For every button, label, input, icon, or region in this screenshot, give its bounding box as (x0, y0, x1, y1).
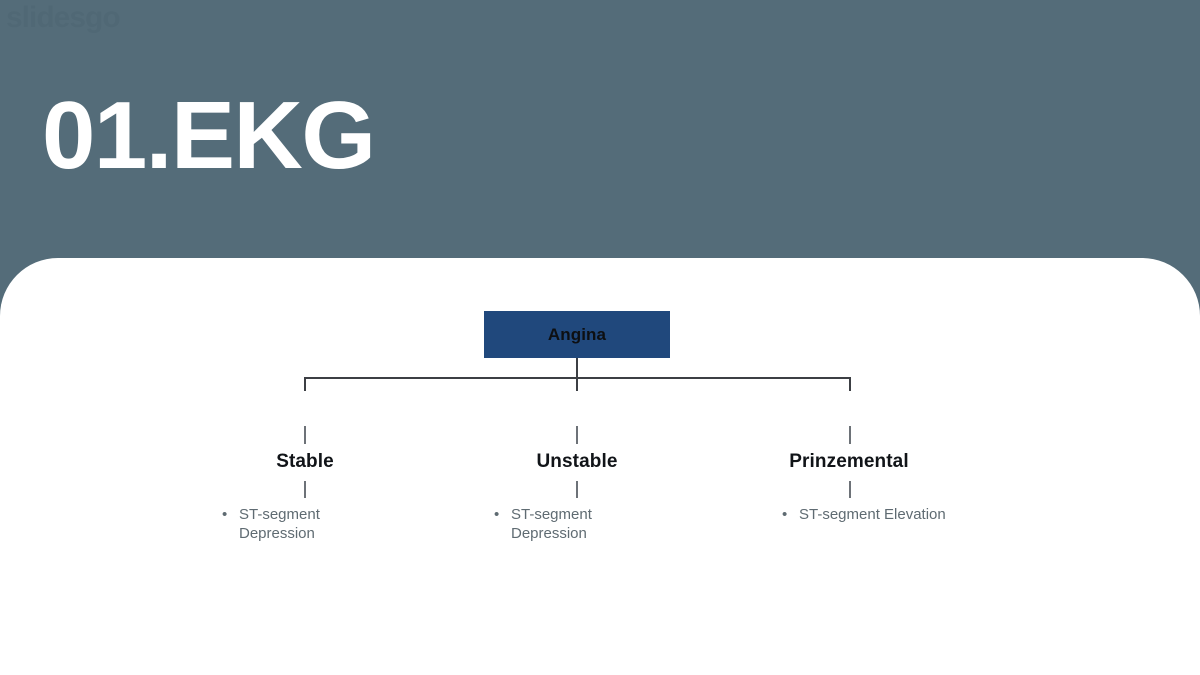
tree-root-label: Angina (548, 325, 606, 345)
watermark-logo: slidesgo (6, 2, 136, 64)
connector-root-vertical (576, 358, 578, 378)
branch-items-prinzemental: ST-segment Elevation (782, 506, 1032, 525)
branch-unstable[interactable]: Unstable (427, 452, 727, 471)
branch-items-stable: ST-segment Depression (222, 506, 402, 544)
slide: slidesgo 01.EKG Angina Stable ST-segment… (0, 0, 1200, 675)
content-panel: Angina Stable ST-segment Depression Unst… (0, 258, 1200, 675)
connector-branch-middle (576, 377, 578, 391)
stub-below-stable (304, 481, 306, 498)
list-item: ST-segment Depression (222, 506, 402, 544)
stub-above-unstable (576, 426, 578, 444)
connector-branch-left (304, 377, 306, 391)
list-item: ST-segment Depression (494, 506, 674, 544)
connector-branch-right (849, 377, 851, 391)
page-title: 01.EKG (42, 88, 374, 184)
angina-tree-diagram: Angina Stable ST-segment Depression Unst… (0, 258, 1200, 675)
branch-label-unstable: Unstable (427, 452, 727, 471)
stub-above-prinzemental (849, 426, 851, 444)
list-item: ST-segment Elevation (782, 506, 1032, 525)
branch-label-prinzemental: Prinzemental (699, 452, 999, 471)
branch-stable[interactable]: Stable (155, 452, 455, 471)
branch-items-unstable: ST-segment Depression (494, 506, 674, 544)
branch-prinzemental[interactable]: Prinzemental (699, 452, 999, 471)
tree-root-node[interactable]: Angina (484, 311, 670, 358)
stub-below-unstable (576, 481, 578, 498)
branch-label-stable: Stable (155, 452, 455, 471)
stub-above-stable (304, 426, 306, 444)
stub-below-prinzemental (849, 481, 851, 498)
